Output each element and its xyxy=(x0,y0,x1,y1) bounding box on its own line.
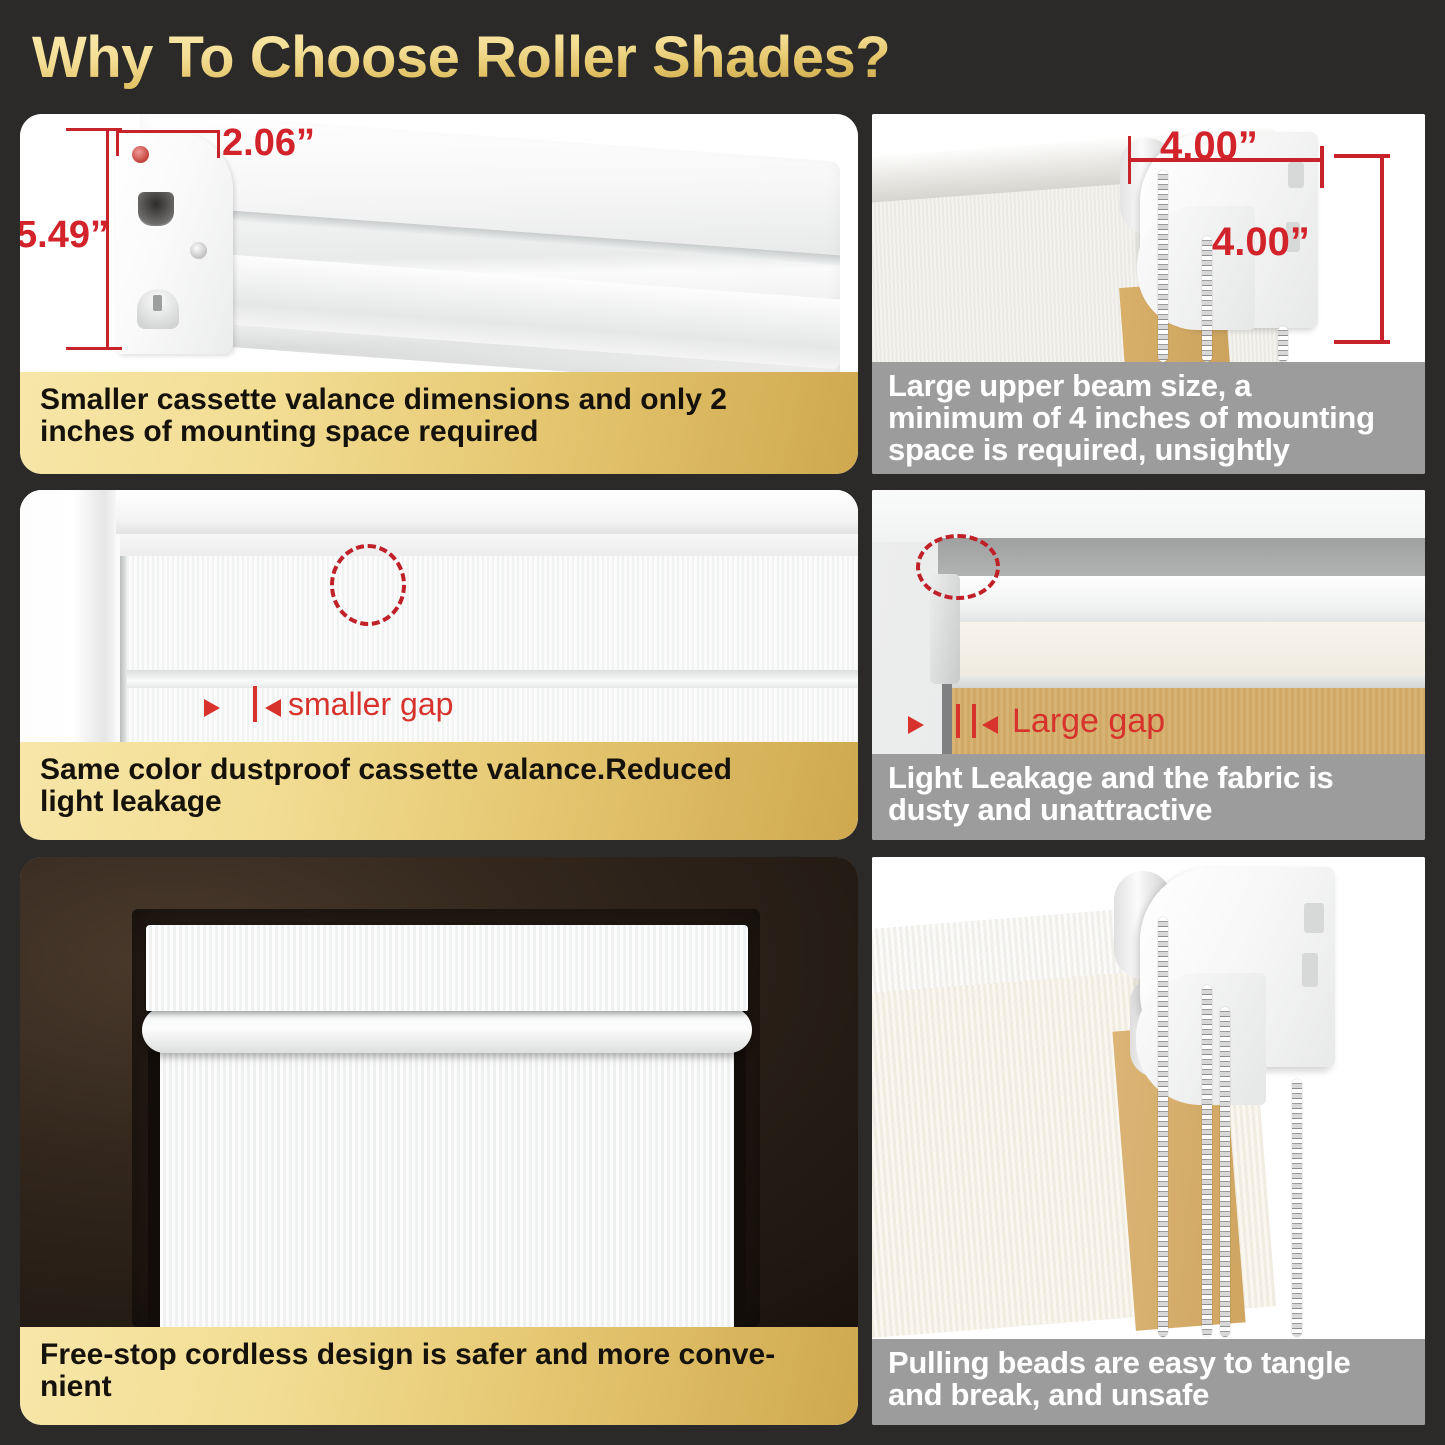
dim-width-label: 4.00” xyxy=(1160,124,1258,169)
panel-light-leakage: Large gap Light Leakage and the fabric i… xyxy=(872,490,1425,840)
white-shade-shape xyxy=(124,554,858,742)
caption-line-1: Free-stop cordless design is safer and m… xyxy=(40,1339,838,1371)
caption-band: Pulling beads are easy to tangle and bre… xyxy=(872,1339,1425,1425)
bead-chain-2 xyxy=(1202,985,1212,1337)
gap-label: smaller gap xyxy=(288,686,453,723)
caption-line-1: Pulling beads are easy to tangle xyxy=(888,1347,1409,1379)
large-beam-photo: 4.00” 4.00” xyxy=(872,114,1425,362)
page-title: Why To Choose Roller Shades? xyxy=(32,22,1132,94)
shade-midrail-shape xyxy=(124,670,858,688)
panel-large-upper-beam: 4.00” 4.00” Large upper beam size, a min… xyxy=(872,114,1425,474)
shade-fabric-shape xyxy=(160,1049,734,1327)
pulling-beads-photo xyxy=(872,857,1425,1339)
gap-tick-1 xyxy=(956,704,960,738)
caption-band: Light Leakage and the fabric is dusty an… xyxy=(872,754,1425,840)
dim-width-label: 2.06” xyxy=(222,122,315,165)
beam-notch-upper xyxy=(1288,162,1304,188)
panel-dustproof-valance: smaller gap Same color dustproof cassett… xyxy=(20,490,858,840)
infographic-page: Why To Choose Roller Shades? 2.06” 5.49”… xyxy=(0,0,1445,1445)
gap-tick-2 xyxy=(972,704,976,738)
cassette-headrail-shape xyxy=(146,925,748,1011)
shade-edge-shape xyxy=(120,550,127,742)
bead-chain-4 xyxy=(1292,1079,1302,1337)
caption-line-2: inches of mounting space required xyxy=(40,416,838,448)
gap-arrow-right xyxy=(265,699,281,717)
caption-band: Same color dustproof cassette valance.Re… xyxy=(20,742,858,840)
bead-chain-1 xyxy=(1158,917,1168,1337)
cassette-valance-photo: 2.06” 5.49” xyxy=(20,114,858,372)
bead-chain-1 xyxy=(1158,170,1168,362)
gap-arrow-left xyxy=(204,699,220,717)
dim-width-tick-right xyxy=(1320,146,1324,188)
cordless-design-photo xyxy=(20,857,858,1327)
panel-cassette-valance: 2.06” 5.49” Smaller cassette valance dim… xyxy=(20,114,858,474)
gap-arrow-right xyxy=(982,716,998,734)
caption-line-2: minimum of 4 inches of mounting xyxy=(888,402,1409,434)
dustproof-valance-photo: smaller gap xyxy=(20,490,858,742)
bracket-notch-lower xyxy=(1302,953,1318,987)
dim-width-tick-right xyxy=(217,130,220,158)
caption-line-1: Smaller cassette valance dimensions and … xyxy=(40,384,838,416)
gap-arrow-left xyxy=(908,716,924,734)
dim-height-tick-bottom xyxy=(66,347,122,350)
caption-line-2: dusty and unattractive xyxy=(888,794,1409,826)
valance-slot-shape xyxy=(138,192,174,226)
side-gap-shape xyxy=(942,676,952,754)
caption-line-2: and break, and unsafe xyxy=(888,1379,1409,1411)
dim-height-label: 5.49” xyxy=(20,214,109,257)
valance-knob-shape xyxy=(137,289,179,329)
dim-height-tick-top xyxy=(66,128,122,131)
dim-width-line xyxy=(116,130,220,133)
dim-height-label: 4.00” xyxy=(1212,220,1310,265)
gap-tick xyxy=(253,686,257,722)
caption-band: Smaller cassette valance dimensions and … xyxy=(20,372,858,474)
caption-band: Large upper beam size, a minimum of 4 in… xyxy=(872,362,1425,474)
dim-height-line xyxy=(1380,154,1384,344)
caption-line-3: space is required, unsightly xyxy=(888,434,1409,466)
highlight-circle xyxy=(916,534,1000,600)
caption-line-1: Same color dustproof cassette valance.Re… xyxy=(40,754,838,786)
bead-chain-2 xyxy=(1202,236,1212,362)
window-frame-top-shape xyxy=(106,490,858,534)
bead-chain-3 xyxy=(1220,1007,1230,1337)
caption-line-1: Light Leakage and the fabric is xyxy=(888,762,1409,794)
bracket-notch-upper xyxy=(1304,903,1324,933)
dim-width-tick-left xyxy=(116,130,119,156)
valance-screw-shape xyxy=(190,242,207,259)
window-frame-left-shape xyxy=(20,490,116,742)
gap-label: Large gap xyxy=(1012,702,1165,741)
bracket-lower-shape xyxy=(1136,973,1266,1105)
dim-height-tick-bottom xyxy=(1334,340,1390,344)
caption-line-2: light leakage xyxy=(40,786,838,818)
caption-line-2: nient xyxy=(40,1371,838,1403)
valance-roll-shape xyxy=(142,1007,752,1053)
valance-red-screw-shape xyxy=(132,146,149,163)
bead-chain-3 xyxy=(1278,326,1288,362)
caption-line-1: Large upper beam size, a xyxy=(888,370,1409,402)
panel-cordless-design: Free-stop cordless design is safer and m… xyxy=(20,857,858,1425)
light-leakage-photo: Large gap xyxy=(872,490,1425,754)
caption-band: Free-stop cordless design is safer and m… xyxy=(20,1327,858,1425)
cream-fabric-shape xyxy=(948,622,1425,678)
panel-pulling-beads: Pulling beads are easy to tangle and bre… xyxy=(872,857,1425,1425)
highlight-circle xyxy=(330,544,406,626)
